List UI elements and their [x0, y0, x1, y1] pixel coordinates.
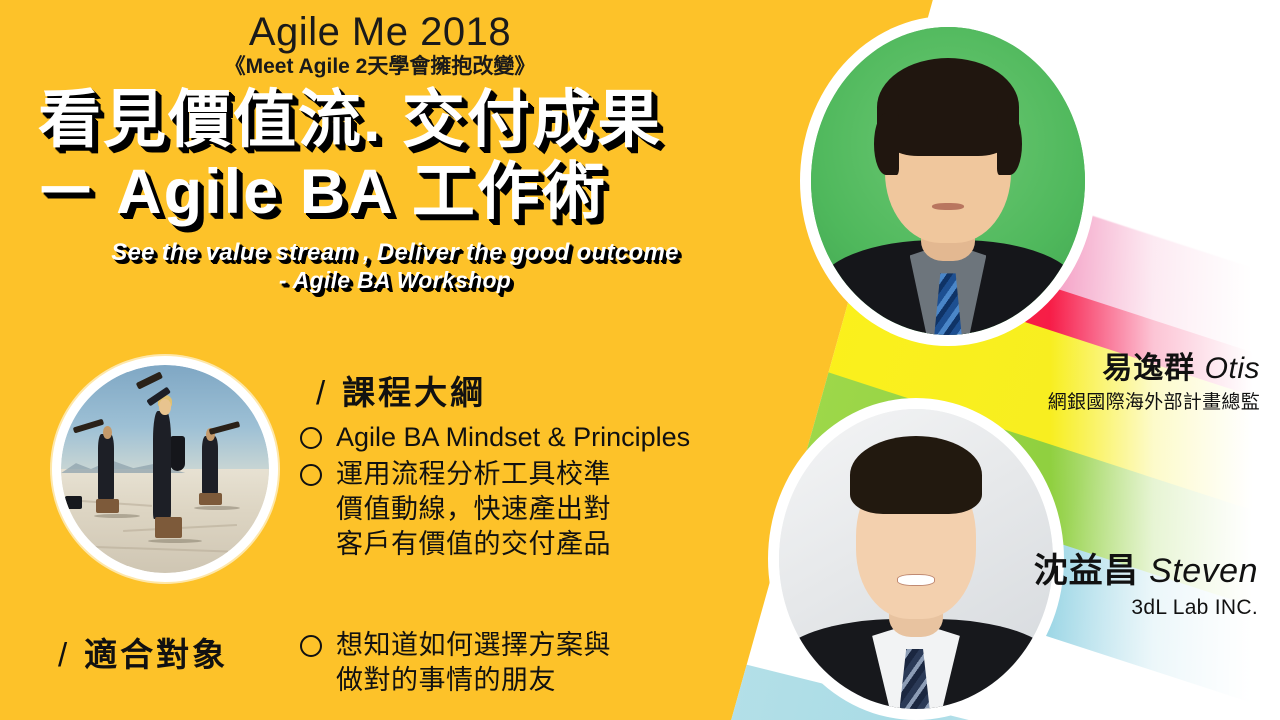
slash-mark-outline: / — [316, 374, 342, 412]
photo-shadow — [94, 514, 140, 518]
list-item: 運用流程分析工具校準 價值動線，快速產出對 客戶有價值的交付產品 — [300, 457, 740, 562]
photo-figure-center — [153, 411, 172, 519]
speaker-otis-name: 易逸群 Otis — [840, 352, 1260, 387]
list-item-line: 價值動線，快速產出對 — [336, 492, 611, 527]
list-item-line: 想知道如何選擇方案與 — [336, 628, 611, 663]
hero-title-line2: － Agile BA 工作術 — [30, 160, 760, 224]
photo-figure-right — [202, 436, 218, 494]
photo-crate-center — [155, 517, 182, 538]
section-heading-outline: /課程大綱 — [316, 366, 486, 414]
speaker-otis-name-zh: 易逸群 — [1102, 352, 1195, 385]
speaker-steven-name-en: Steven — [1149, 552, 1258, 590]
section-heading-outline-label: 課程大綱 — [342, 374, 486, 411]
list-item-line: 做對的事情的朋友 — [336, 663, 611, 698]
otis-mouth — [932, 203, 965, 211]
speaker-steven-role: 3dL Lab INC. — [838, 596, 1258, 620]
hero-title-line1: 看見價值流. 交付成果 — [30, 88, 760, 152]
circle-outline-bullet-icon — [300, 464, 322, 486]
slash-mark-audience: / — [58, 636, 84, 674]
list-item: 想知道如何選擇方案與 做對的事情的朋友 — [300, 628, 700, 698]
hero-title-block: 看見價值流. 交付成果 － Agile BA 工作術 See the value… — [30, 88, 760, 294]
section-heading-audience: /適合對象 — [58, 628, 228, 676]
speaker-otis-name-en: Otis — [1205, 352, 1260, 385]
outline-bullet-list: Agile BA Mindset & Principles 運用流程分析工具校準… — [300, 420, 740, 564]
circle-outline-bullet-icon — [300, 635, 322, 657]
otis-sideburn-right — [997, 113, 1022, 175]
list-item-line: Agile BA Mindset & Principles — [336, 420, 690, 455]
circle-outline-bullet-icon — [300, 427, 322, 449]
speaker-otis-role: 網銀國際海外部計畫總監 — [840, 392, 1260, 414]
photo-crate-left — [96, 499, 119, 513]
list-item-line: 運用流程分析工具校準 — [336, 457, 611, 492]
business-people-with-telescopes-photo — [52, 356, 278, 582]
steven-hair — [850, 436, 982, 514]
photo-briefcase — [65, 496, 82, 508]
hero-english-line2: - Agile BA Workshop — [30, 267, 760, 294]
list-item-text: 運用流程分析工具校準 價值動線，快速產出對 客戶有價值的交付產品 — [336, 457, 611, 562]
photo-head-left — [103, 426, 112, 438]
photo-shadow — [148, 539, 202, 543]
portrait-otis — [800, 16, 1096, 346]
speaker-otis-info: 易逸群 Otis 網銀國際海外部計畫總監 — [840, 352, 1260, 413]
team-photo-art — [61, 365, 269, 573]
speaker-steven-name-zh: 沈益昌 — [1034, 552, 1139, 590]
photo-crate-right — [199, 493, 222, 505]
event-subtitle: 《Meet Agile 2天學會擁抱改變》 — [0, 56, 760, 77]
section-heading-audience-label: 適合對象 — [84, 636, 228, 673]
photo-head-center — [159, 399, 170, 415]
list-item-text: 想知道如何選擇方案與 做對的事情的朋友 — [336, 628, 611, 698]
hero-english-line1: See the value stream , Deliver the good … — [30, 239, 760, 267]
steven-glasses-lens-right — [779, 409, 783, 413]
event-header: Agile Me 2018 《Meet Agile 2天學會擁抱改變》 — [0, 12, 760, 77]
photo-bag — [170, 436, 185, 471]
speaker-steven-info: 沈益昌 Steven 3dL Lab INC. — [838, 552, 1258, 620]
otis-sideburn-left — [874, 113, 899, 175]
photo-figure-left — [98, 434, 114, 501]
list-item: Agile BA Mindset & Principles — [300, 420, 740, 455]
event-title: Agile Me 2018 — [0, 12, 760, 52]
poster-canvas: Agile Me 2018 《Meet Agile 2天學會擁抱改變》 看見價值… — [0, 0, 1280, 720]
otis-glasses-lens-right — [811, 27, 817, 33]
hero-english-subtitle: See the value stream , Deliver the good … — [30, 239, 760, 294]
list-item-text: Agile BA Mindset & Principles — [336, 420, 690, 455]
speaker-steven-name: 沈益昌 Steven — [838, 552, 1258, 591]
list-item-line: 客戶有價值的交付產品 — [336, 527, 611, 562]
audience-bullet-list: 想知道如何選擇方案與 做對的事情的朋友 — [300, 628, 700, 700]
